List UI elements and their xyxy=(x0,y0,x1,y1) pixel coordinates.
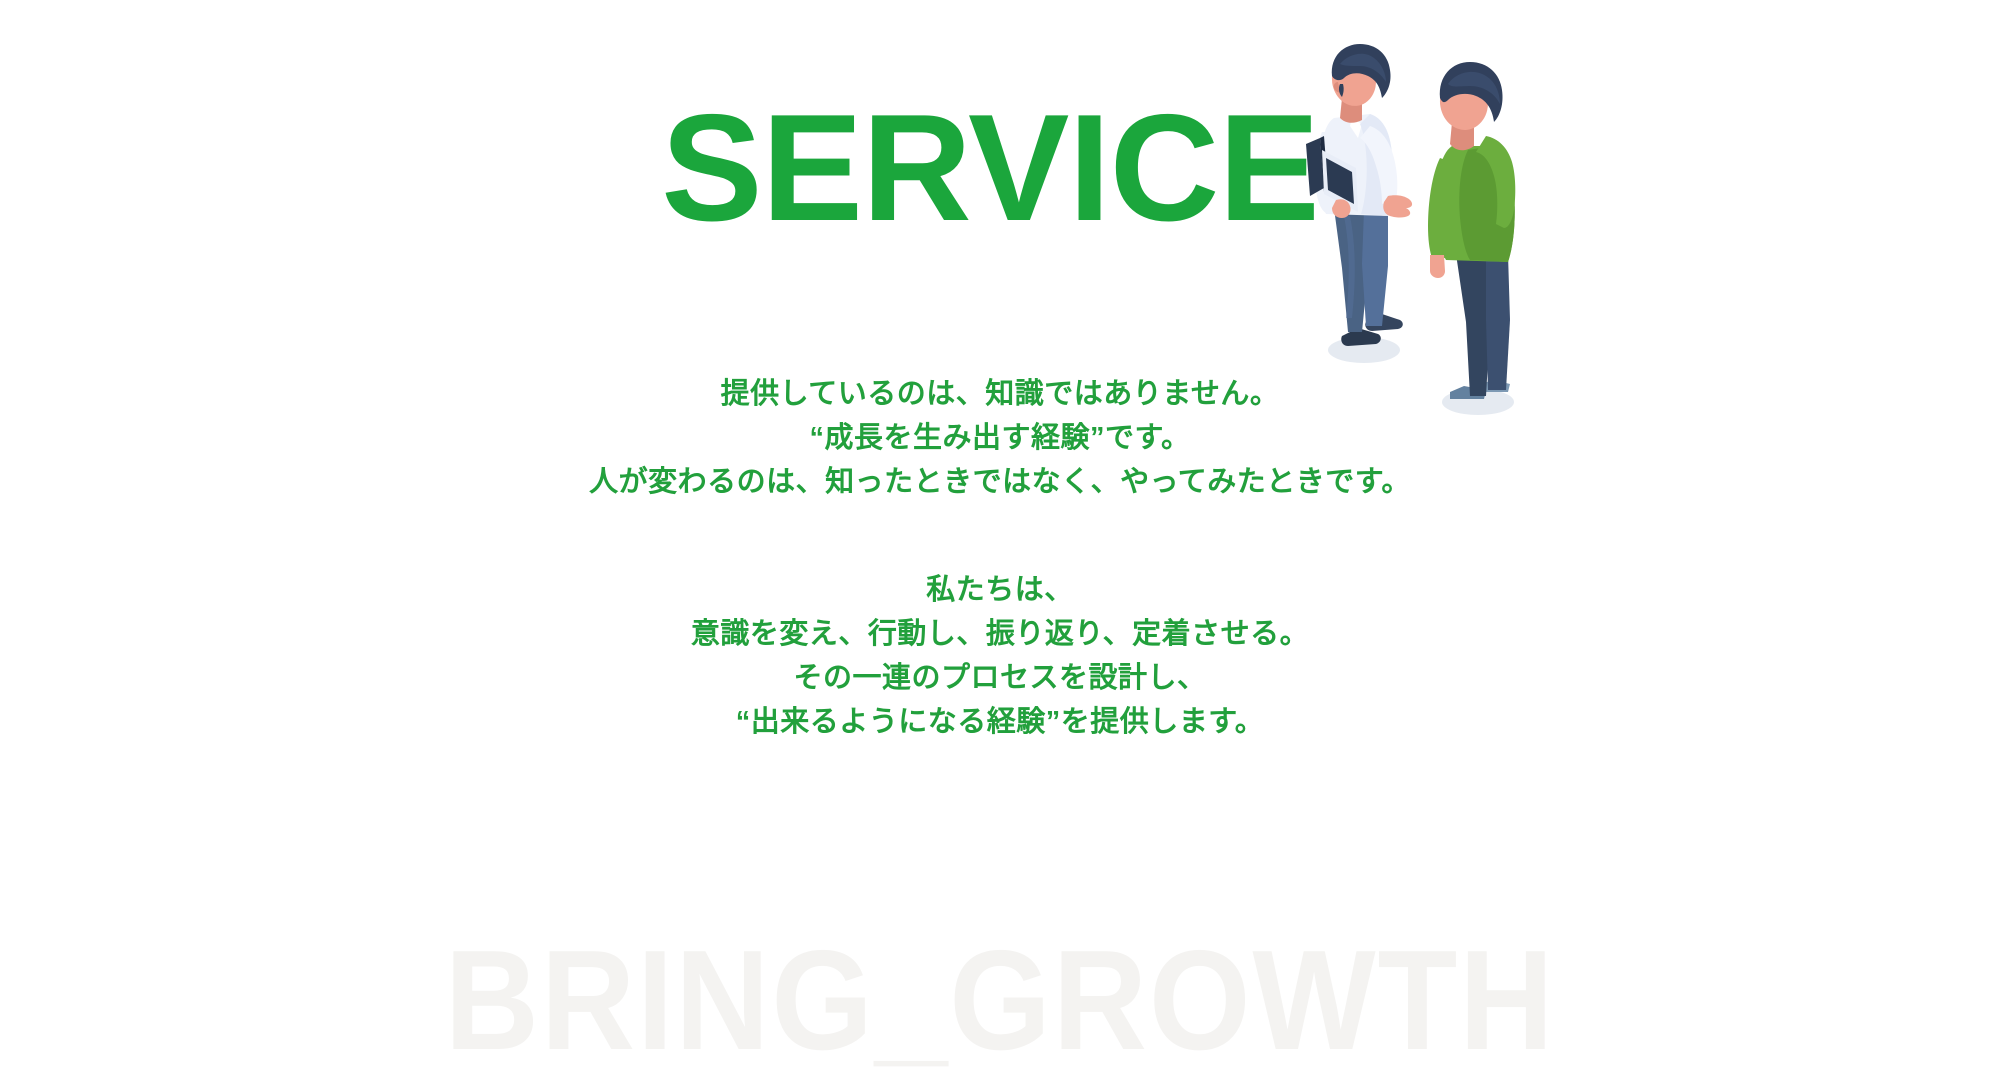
brand-watermark: BRING_GROWTH xyxy=(80,930,1920,1072)
copy-line: 私たちは、 xyxy=(0,568,2000,612)
copy-line: 意識を変え、行動し、振り返り、定着させる。 xyxy=(0,612,2000,656)
copy-line: 提供しているのは、知識ではありません。 xyxy=(0,372,2000,416)
copy-block-secondary: 私たちは、 意識を変え、行動し、振り返り、定着させる。 その一連のプロセスを設計… xyxy=(0,568,2000,744)
service-section: SERVICE xyxy=(0,0,2000,1080)
copy-line: “成長を生み出す経験”です。 xyxy=(0,416,2000,460)
page-title: SERVICE xyxy=(0,92,2000,244)
copy-line: 人が変わるのは、知ったときではなく、やってみたときです。 xyxy=(0,460,2000,504)
copy-block-primary: 提供しているのは、知識ではありません。 “成長を生み出す経験”です。 人が変わる… xyxy=(0,372,2000,504)
person-right-green-sweater xyxy=(1428,62,1515,399)
page-title-text: SERVICE xyxy=(661,92,1319,244)
copy-line: “出来るようになる経験”を提供します。 xyxy=(0,700,2000,744)
person-left-with-tablets xyxy=(1306,44,1412,346)
copy-line: その一連のプロセスを設計し、 xyxy=(0,656,2000,700)
